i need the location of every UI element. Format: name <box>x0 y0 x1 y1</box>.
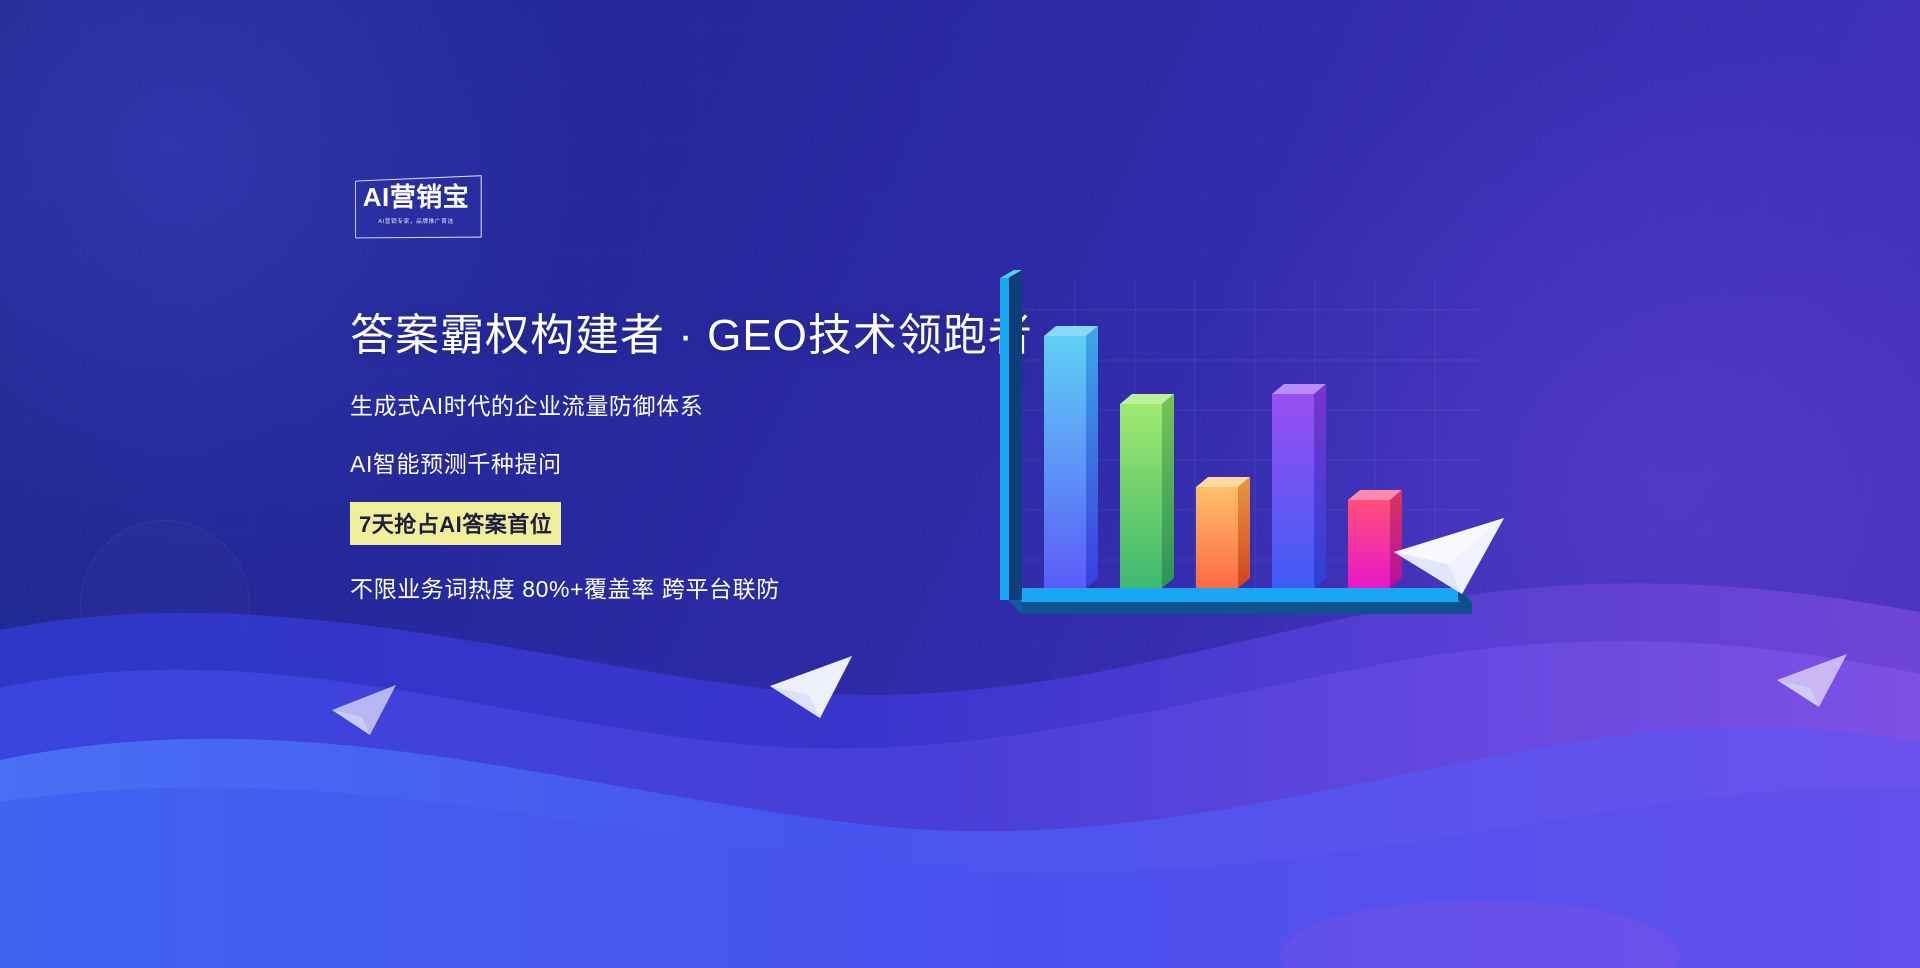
highlight-badge: 7天抢占AI答案首位 <box>350 502 561 545</box>
chart-bar <box>1272 384 1326 588</box>
chart-base <box>1008 588 1472 614</box>
chart-bar <box>1044 326 1098 588</box>
logo-wordmark: AI营销宝 <box>352 184 480 210</box>
logo-tagline: AI营销专家，品牌推广首选 <box>355 216 477 225</box>
bar-chart-illustration <box>960 270 1520 690</box>
chart-y-axis <box>1000 270 1022 600</box>
chart-bar <box>1348 490 1402 588</box>
hero-banner: AI营销宝 AI营销专家，品牌推广首选 答案霸权构建者 · GEO技术领跑者 生… <box>0 0 1920 968</box>
chart-bar <box>1120 394 1174 588</box>
chart-bar <box>1196 477 1250 588</box>
brand-logo[interactable]: AI营销宝 AI营销专家，品牌推广首选 <box>352 178 480 238</box>
